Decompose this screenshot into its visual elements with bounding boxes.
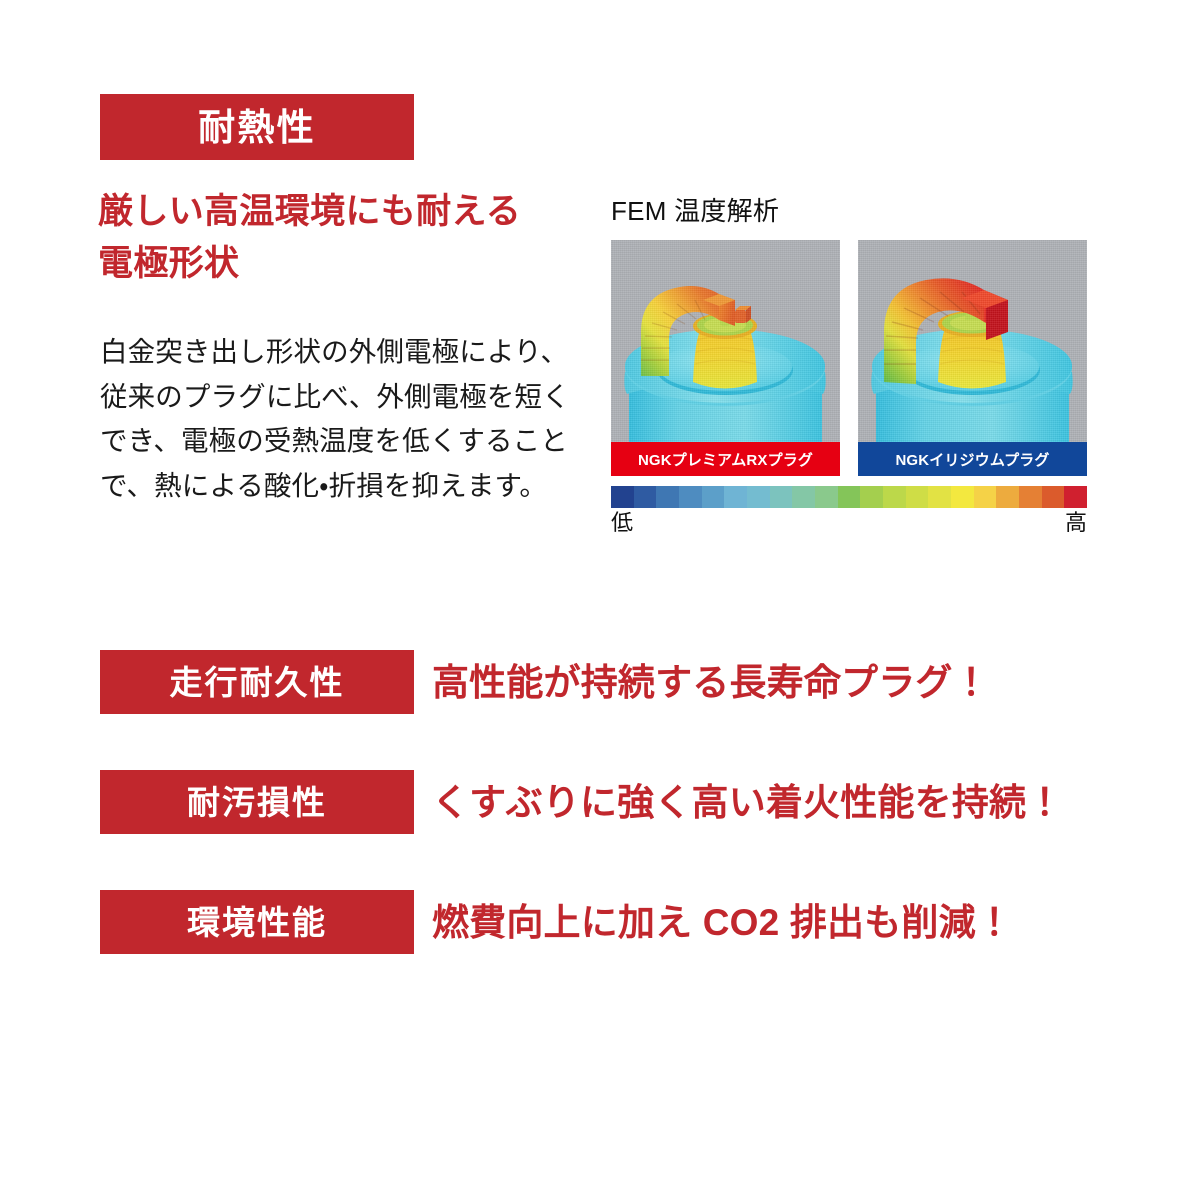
fem-caption-text-iridium: NGKイリジウムプラグ bbox=[895, 449, 1049, 470]
fem-figure-title: FEM 温度解析 bbox=[611, 198, 1087, 224]
feature-tag-fouling-resistance: 耐汚損性 bbox=[100, 770, 414, 834]
feature-tag-environmental-label: 環境性能 bbox=[187, 906, 327, 939]
scale-swatch-20 bbox=[1064, 486, 1087, 508]
scale-swatch-2 bbox=[656, 486, 679, 508]
hero-headline-line-2: 電極形状 bbox=[98, 238, 598, 290]
poster-canvas: 耐熱性 厳しい高温環境にも耐える 電極形状 白金突き出し形状の外側電極により、 … bbox=[0, 0, 1200, 1200]
feature-text-environmental: 燃費向上に加え CO2 排出も削減！ bbox=[432, 904, 1013, 941]
scale-swatch-15 bbox=[951, 486, 974, 508]
scale-swatch-8 bbox=[792, 486, 815, 508]
scale-label-high: 高 bbox=[1065, 512, 1087, 534]
scale-label-low: 低 bbox=[611, 512, 633, 534]
fem-panel-iridium: NGKイリジウムプラグ bbox=[858, 240, 1087, 476]
feature-text-durability: 高性能が持続する長寿命プラグ！ bbox=[432, 664, 990, 701]
fem-thermal-render-premium-rx bbox=[611, 240, 840, 476]
section-badge-heat-resistance: 耐熱性 bbox=[100, 94, 414, 160]
scale-swatch-10 bbox=[838, 486, 861, 508]
hero-headline: 厳しい高温環境にも耐える 電極形状 bbox=[98, 186, 598, 290]
scale-swatch-17 bbox=[996, 486, 1019, 508]
hero-body-line-1: 白金突き出し形状の外側電極により、 bbox=[100, 330, 590, 375]
fem-panel-group: NGKプレミアムRXプラグ bbox=[611, 240, 1087, 476]
feature-tag-environmental: 環境性能 bbox=[100, 890, 414, 954]
feature-tag-durability-label: 走行耐久性 bbox=[170, 666, 345, 699]
scale-swatch-3 bbox=[679, 486, 702, 508]
fem-panel-caption-iridium: NGKイリジウムプラグ bbox=[858, 442, 1087, 476]
scale-swatch-19 bbox=[1042, 486, 1065, 508]
section-badge-heat-resistance-label: 耐熱性 bbox=[198, 109, 316, 146]
scale-swatch-12 bbox=[883, 486, 906, 508]
scale-swatch-0 bbox=[611, 486, 634, 508]
hero-body-copy: 白金突き出し形状の外側電極により、 従来のプラグに比べ、外側電極を短く でき、電… bbox=[100, 330, 590, 508]
fem-panel-caption-premium-rx: NGKプレミアムRXプラグ bbox=[611, 442, 840, 476]
scale-swatch-18 bbox=[1019, 486, 1042, 508]
scale-swatch-16 bbox=[974, 486, 997, 508]
hero-body-line-2: 従来のプラグに比べ、外側電極を短く bbox=[100, 375, 590, 420]
hero-body-line-4: で、熱による酸化・折損を抑えます。 bbox=[100, 464, 590, 509]
fem-thermal-render-iridium bbox=[858, 240, 1087, 476]
temperature-scale-labels: 低 高 bbox=[611, 512, 1087, 534]
scale-swatch-5 bbox=[724, 486, 747, 508]
feature-tag-fouling-resistance-label: 耐汚損性 bbox=[187, 786, 327, 819]
fem-caption-text-premium-rx: NGKプレミアムRXプラグ bbox=[638, 449, 813, 470]
scale-swatch-11 bbox=[860, 486, 883, 508]
scale-swatch-9 bbox=[815, 486, 838, 508]
scale-swatch-14 bbox=[928, 486, 951, 508]
feature-text-fouling-resistance: くすぶりに強く高い着火性能を持続！ bbox=[432, 784, 1063, 821]
hero-headline-line-1: 厳しい高温環境にも耐える bbox=[98, 186, 598, 238]
scale-swatch-6 bbox=[747, 486, 770, 508]
scale-swatch-13 bbox=[906, 486, 929, 508]
hero-body-line-3: でき、電極の受熱温度を低くすること bbox=[100, 419, 590, 464]
scale-swatch-7 bbox=[770, 486, 793, 508]
scale-swatch-4 bbox=[702, 486, 725, 508]
fem-analysis-figure: FEM 温度解析 bbox=[611, 198, 1087, 534]
scale-swatch-1 bbox=[634, 486, 657, 508]
temperature-scale: 低 高 bbox=[611, 486, 1087, 534]
fem-panel-premium-rx: NGKプレミアムRXプラグ bbox=[611, 240, 840, 476]
feature-tag-durability: 走行耐久性 bbox=[100, 650, 414, 714]
temperature-scale-bar bbox=[611, 486, 1087, 508]
